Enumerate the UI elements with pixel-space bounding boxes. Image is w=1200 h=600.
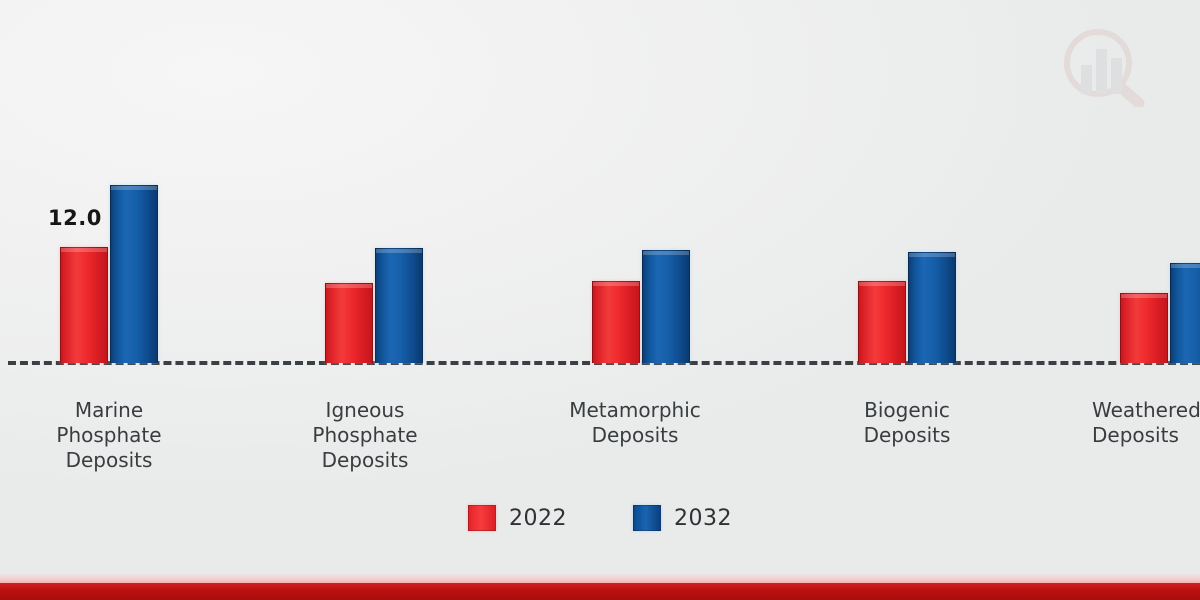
bar-2022-igneous-phosphate-deposits[interactable] [325, 283, 373, 363]
bar-highlight [643, 251, 689, 255]
bar-highlight [61, 248, 107, 252]
bar-highlight [376, 249, 422, 253]
bar-2032-metamorphic-deposits[interactable] [642, 250, 690, 363]
bar-highlight [593, 282, 639, 286]
bottom-accent-band [0, 583, 1200, 600]
bar-2022-biogenic-deposits[interactable] [858, 281, 906, 363]
category-label-biogenic-deposits: Biogenic Deposits [812, 398, 1002, 448]
chart-legend: 2022 2032 [0, 505, 1200, 531]
legend-swatch-2022-icon [468, 505, 496, 531]
category-label-weathered-deposits: Weathered Deposits [1092, 398, 1200, 448]
legend-item-2032[interactable]: 2032 [633, 505, 732, 531]
bar-highlight [1171, 264, 1200, 268]
bar-highlight [1121, 294, 1167, 298]
bar-2022-metamorphic-deposits[interactable] [592, 281, 640, 363]
legend-label-2032: 2032 [674, 506, 732, 531]
category-label-metamorphic-deposits: Metamorphic Deposits [540, 398, 730, 448]
data-label-2022-marine-phosphate-deposits: 12.0 [48, 206, 102, 230]
legend-item-2022[interactable]: 2022 [468, 505, 567, 531]
chart-canvas: 12.0 [0, 0, 1200, 600]
bar-2032-marine-phosphate-deposits[interactable] [110, 185, 158, 363]
bar-2032-biogenic-deposits[interactable] [908, 252, 956, 363]
bar-2032-igneous-phosphate-deposits[interactable] [375, 248, 423, 363]
legend-label-2022: 2022 [509, 506, 567, 531]
bar-2022-weathered-deposits[interactable] [1120, 293, 1168, 363]
category-label-marine-phosphate-deposits: Marine Phosphate Deposits [24, 398, 194, 473]
bar-highlight [111, 186, 157, 190]
bar-highlight [859, 282, 905, 286]
bar-highlight [326, 284, 372, 288]
bottom-band-glow [0, 573, 1200, 583]
bar-highlight [909, 253, 955, 257]
legend-swatch-2032-icon [633, 505, 661, 531]
bar-2022-marine-phosphate-deposits[interactable] [60, 247, 108, 363]
category-label-igneous-phosphate-deposits: Igneous Phosphate Deposits [270, 398, 460, 473]
bar-2032-weathered-deposits[interactable] [1170, 263, 1200, 363]
